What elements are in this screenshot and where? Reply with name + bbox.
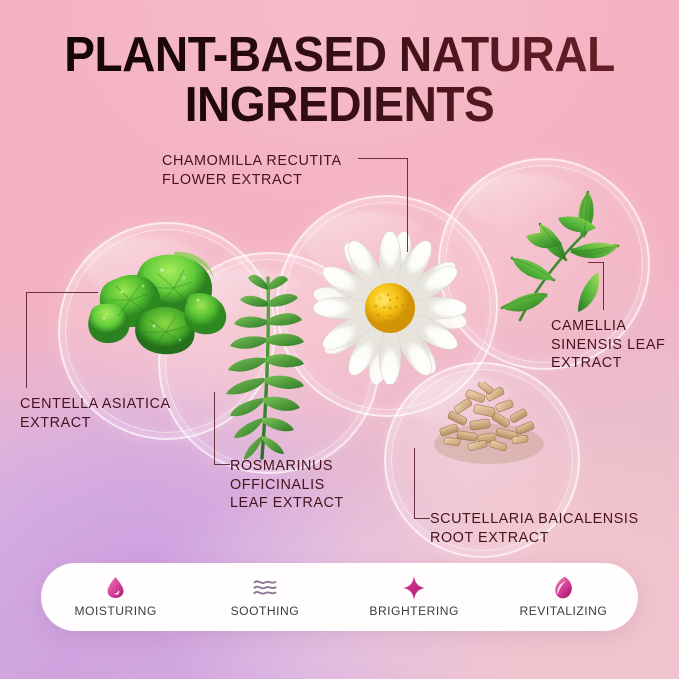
benefit-moisturing[interactable]: MOISTURING [41,577,190,618]
ingredient-infographic: PLANT-BASED NATURAL INGREDIENTS [0,0,679,679]
title-line-2: INGREDIENTS [20,80,658,130]
page-title: PLANT-BASED NATURAL INGREDIENTS [0,30,679,130]
benefit-brightering[interactable]: BRIGHTERING [340,577,489,618]
ingredient-label-rosmarinus: ROSMARINUS OFFICINALIS LEAF EXTRACT [230,457,344,513]
ingredient-label-centella: CENTELLA ASIATICA EXTRACT [20,395,171,432]
benefit-revitalizing[interactable]: REVITALIZING [489,577,638,618]
benefit-label-soothing: SOOTHING [231,604,300,618]
ingredient-label-chamomilla: CHAMOMILLA RECUTITA FLOWER EXTRACT [162,152,342,189]
benefit-label-brightering: BRIGHTERING [369,604,459,618]
benefit-label-revitalizing: REVITALIZING [519,604,607,618]
waves-icon [252,577,278,599]
sparkle-icon [403,577,425,599]
ingredient-label-scutellaria: SCUTELLARIA BAICALENSIS ROOT EXTRACT [430,510,639,547]
benefits-bar: MOISTURING SOOTHING [41,563,638,631]
ingredient-label-camellia: CAMELLIA SINENSIS LEAF EXTRACT [551,317,665,373]
water-drop-icon [106,577,125,599]
leaf-icon [553,577,574,599]
benefit-soothing[interactable]: SOOTHING [190,577,339,618]
benefit-label-moisturing: MOISTURING [74,604,156,618]
title-line-1: PLANT-BASED NATURAL [20,30,658,80]
